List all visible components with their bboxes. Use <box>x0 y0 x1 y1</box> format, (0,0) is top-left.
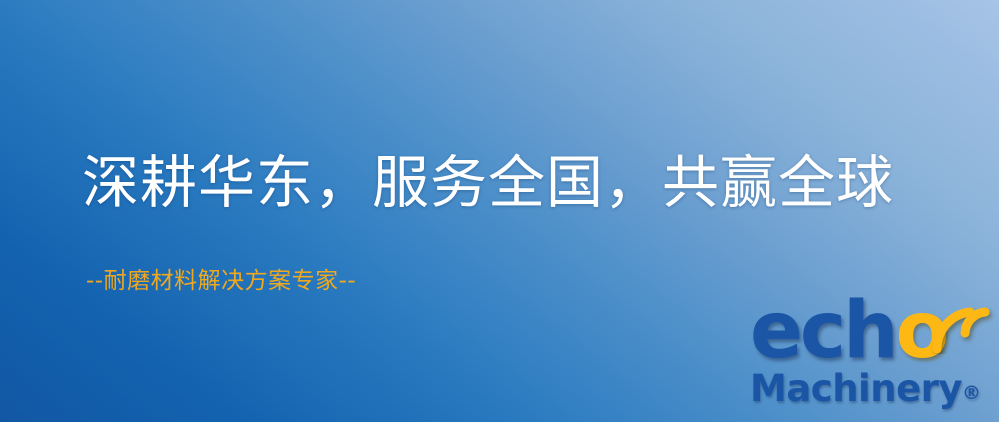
company-logo[interactable]: echo Machinery® <box>748 296 999 422</box>
logo-tagline: Machinery® <box>750 370 981 407</box>
banner-headline: 深耕华东，服务全国，共赢全球 <box>82 152 894 216</box>
logo-wordmark: echo <box>748 296 999 378</box>
logo-brand-text-main: ech <box>750 286 896 376</box>
logo-tagline-text: Machinery <box>750 367 962 410</box>
signal-waves-icon <box>929 292 999 354</box>
registered-trademark-icon: ® <box>962 382 981 404</box>
logo-brand-text: echo <box>750 292 946 370</box>
banner-subtitle: --耐磨材料解决方案专家-- <box>86 268 356 296</box>
hero-banner: 深耕华东，服务全国，共赢全球 --耐磨材料解决方案专家-- echo Machi… <box>0 0 999 422</box>
